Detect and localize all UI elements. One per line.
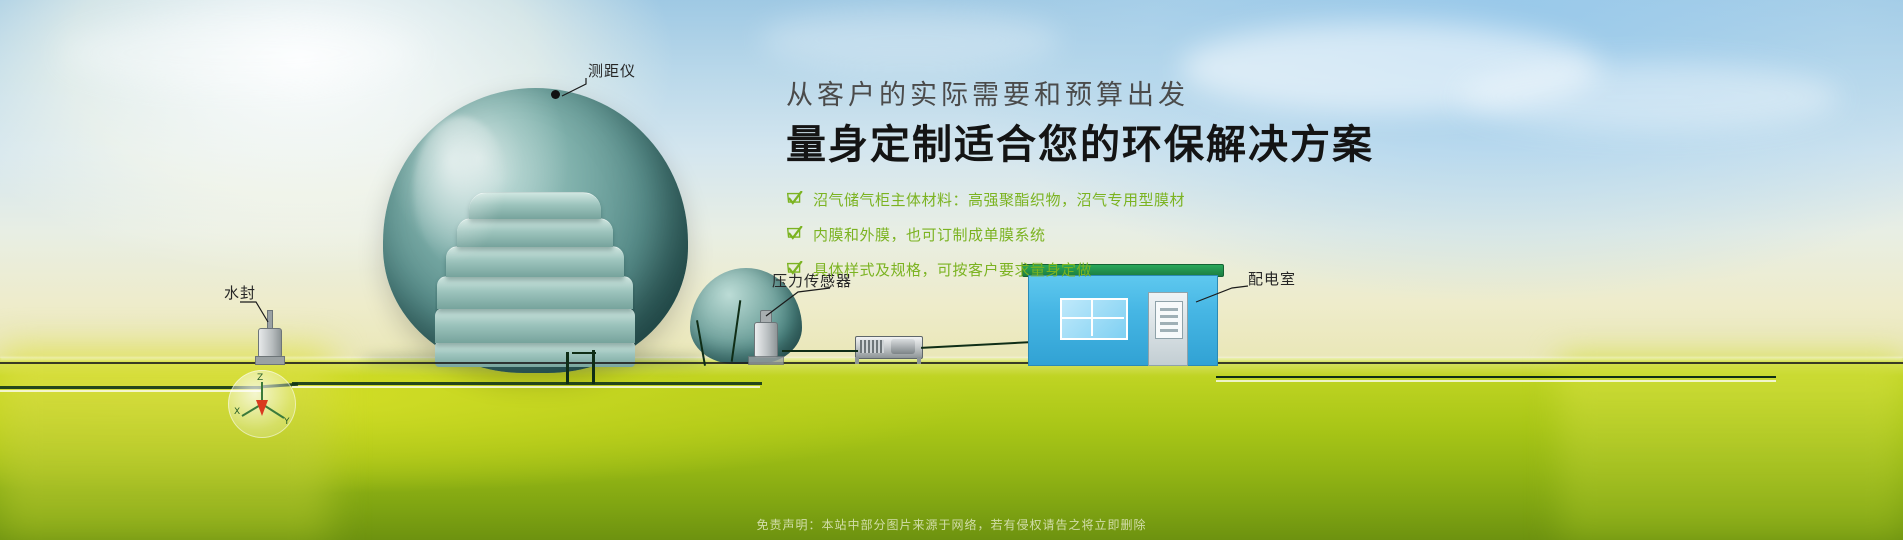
pipe-run (0, 386, 262, 389)
cable-highlight (1216, 380, 1776, 382)
house-window (1060, 298, 1128, 340)
dome-highlight (413, 116, 509, 266)
blower-legs (855, 357, 921, 364)
field-blur-right (1560, 356, 1903, 540)
cloud (1460, 62, 1840, 132)
pipe-highlight (0, 390, 262, 392)
rangefinder-sensor-icon (551, 90, 560, 99)
membrane-step (437, 276, 633, 309)
disclaimer-text: 免责声明：本站中部分图片来源于网络，若有侵权请告之将立即删除 (0, 516, 1903, 533)
hero-bullet-text: 沼气储气柜主体材料：高强聚酯织物，沼气专用型膜材 (813, 189, 1185, 210)
control-panel-display (1155, 301, 1183, 339)
cable-run (1216, 376, 1776, 378)
cloud (760, 10, 1060, 70)
hero-bullet-item: 沼气储气柜主体材料：高强聚酯织物，沼气专用型膜材 (786, 189, 1426, 210)
axis-gizmo-svg: Z X Y (228, 370, 296, 438)
axis-label-z: Z (257, 373, 263, 383)
ground-line (0, 362, 1903, 364)
blower-skid-unit (855, 336, 921, 364)
check-icon (786, 261, 803, 278)
water-seal-base (255, 356, 285, 365)
cable-run (782, 350, 858, 352)
blower-grill (860, 340, 884, 353)
label-water-seal: 水封 (224, 282, 256, 303)
hero-banner: Z X Y 测距仪 水封 压力传感器 配电室 从客户的实际需要和预算出发 量身定… (0, 0, 1903, 540)
gas-holder-dome (383, 88, 688, 373)
axis-label-y: Y (283, 417, 290, 427)
check-icon (786, 226, 803, 243)
check-icon (786, 191, 803, 208)
axis-gizmo: Z X Y (228, 370, 296, 438)
hero-bullet-item: 具体样式及规格，可按客户要求量身定做 (786, 259, 1426, 280)
riser-cross (572, 352, 596, 354)
riser-pipe (592, 350, 595, 384)
hero-bullet-text: 内膜和外膜，也可订制成单膜系统 (813, 224, 1046, 245)
water-seal-unit (258, 310, 280, 362)
house-control-panel-door (1148, 292, 1188, 366)
axis-label-x: X (234, 407, 240, 417)
pressure-sensor-base (748, 356, 784, 365)
hero-bullet-item: 内膜和外膜，也可订制成单膜系统 (786, 224, 1426, 245)
hero-bullet-text: 具体样式及规格，可按客户要求量身定做 (813, 259, 1092, 280)
hero-bullet-list: 沼气储气柜主体材料：高强聚酯织物，沼气专用型膜材 内膜和外膜，也可订制成单膜系统… (786, 189, 1426, 280)
cloud (60, 18, 420, 88)
pipe-run (292, 382, 762, 385)
label-rangefinder: 测距仪 (588, 60, 636, 81)
pipe-highlight (292, 386, 760, 388)
hero-copy: 从客户的实际需要和预算出发 量身定制适合您的环保解决方案 沼气储气柜主体材料：高… (786, 82, 1426, 294)
membrane-step (435, 308, 635, 343)
horizon-line (0, 357, 1903, 360)
riser-pipe (566, 352, 569, 384)
hero-title: 量身定制适合您的环保解决方案 (786, 123, 1426, 167)
pressure-sensor-body (754, 322, 778, 358)
blower-motor (891, 339, 915, 354)
hero-subtitle: 从客户的实际需要和预算出发 (786, 82, 1426, 109)
pressure-sensor-unit (748, 308, 782, 364)
water-seal-body (258, 328, 282, 358)
